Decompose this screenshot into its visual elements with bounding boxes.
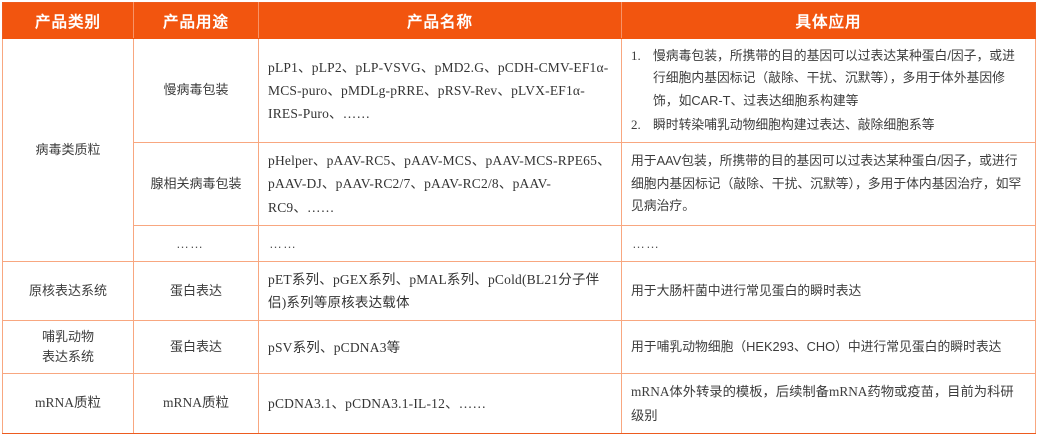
- cell-names-aav: pHelper、pAAV-RC5、pAAV-MCS、pAAV-MCS-RPE65…: [259, 143, 622, 226]
- list-marker: 2.: [631, 114, 649, 137]
- cell-application-lentivirus: 1. 慢病毒包装，所携带的目的基因可以过表达某种蛋白/因子，或进行细胞内基因标记…: [622, 39, 1036, 143]
- cell-names-lentivirus: pLP1、pLP2、pLP-VSVG、pMD2.G、pCDH-CMV-EF1α-…: [259, 39, 622, 143]
- table-row: 哺乳动物 表达系统 蛋白表达 pSV系列、pCDNA3等 用于哺乳动物细胞（HE…: [3, 321, 1036, 374]
- column-header-application: 具体应用: [622, 3, 1036, 39]
- application-list: 1. 慢病毒包装，所携带的目的基因可以过表达某种蛋白/因子，或进行细胞内基因标记…: [631, 45, 1026, 136]
- cell-application-mrna: mRNA体外转录的模板，后续制备mRNA药物或疫苗，目前为科研级别: [622, 374, 1036, 433]
- list-item: 2. 瞬时转染哺乳动物细胞构建过表达、敲除细胞系等: [653, 114, 1026, 136]
- list-item-text: 慢病毒包装，所携带的目的基因可以过表达某种蛋白/因子，或进行细胞内基因标记（敲除…: [653, 48, 1015, 108]
- table-row: mRNA质粒 mRNA质粒 pCDNA3.1、pCDNA3.1-IL-12、………: [3, 374, 1036, 433]
- cell-application-ellipsis: ……: [622, 225, 1036, 261]
- product-spec-table: 产品类别 产品用途 产品名称 具体应用 病毒类质粒 慢病毒包装 pLP1、pLP…: [2, 2, 1036, 434]
- cell-category-prokaryotic-expression: 原核表达系统: [3, 261, 134, 320]
- table-body: 病毒类质粒 慢病毒包装 pLP1、pLP2、pLP-VSVG、pMD2.G、pC…: [3, 39, 1036, 434]
- list-marker: 1.: [631, 45, 649, 68]
- list-item-text: 瞬时转染哺乳动物细胞构建过表达、敲除细胞系等: [653, 117, 935, 132]
- table-header: 产品类别 产品用途 产品名称 具体应用: [3, 3, 1036, 39]
- cell-category-viral-plasmid: 病毒类质粒: [3, 39, 134, 262]
- cell-application-prokaryotic: 用于大肠杆菌中进行常见蛋白的瞬时表达: [622, 261, 1036, 320]
- cell-names-ellipsis: ……: [259, 225, 622, 261]
- table-row: 原核表达系统 蛋白表达 pET系列、pGEX系列、pMAL系列、pCold(BL…: [3, 261, 1036, 320]
- cell-usage-ellipsis: ……: [134, 225, 259, 261]
- cell-names-mrna: pCDNA3.1、pCDNA3.1-IL-12、……: [259, 374, 622, 433]
- column-header-usage: 产品用途: [134, 3, 259, 39]
- cell-application-mammalian: 用于哺乳动物细胞（HEK293、CHO）中进行常见蛋白的瞬时表达: [622, 321, 1036, 374]
- table-row: 病毒类质粒 慢病毒包装 pLP1、pLP2、pLP-VSVG、pMD2.G、pC…: [3, 39, 1036, 143]
- cell-usage-aav-packaging: 腺相关病毒包装: [134, 143, 259, 226]
- cell-usage-protein-expression-mammalian: 蛋白表达: [134, 321, 259, 374]
- table-row: …… …… ……: [3, 225, 1036, 261]
- cell-names-prokaryotic: pET系列、pGEX系列、pMAL系列、pCold(BL21分子伴侣)系列等原核…: [259, 261, 622, 320]
- cell-category-mammalian-expression: 哺乳动物 表达系统: [3, 321, 134, 374]
- product-spec-table-wrapper: 产品类别 产品用途 产品名称 具体应用 病毒类质粒 慢病毒包装 pLP1、pLP…: [0, 0, 1037, 438]
- cell-usage-protein-expression-prokaryotic: 蛋白表达: [134, 261, 259, 320]
- category-line-2: 表达系统: [12, 347, 124, 367]
- cell-usage-lentivirus-packaging: 慢病毒包装: [134, 39, 259, 143]
- cell-application-aav: 用于AAV包装，所携带的目的基因可以过表达某种蛋白/因子，或进行细胞内基因标记（…: [622, 143, 1036, 226]
- category-line-1: 哺乳动物: [12, 327, 124, 347]
- table-row: 腺相关病毒包装 pHelper、pAAV-RC5、pAAV-MCS、pAAV-M…: [3, 143, 1036, 226]
- column-header-product-name: 产品名称: [259, 3, 622, 39]
- list-item: 1. 慢病毒包装，所携带的目的基因可以过表达某种蛋白/因子，或进行细胞内基因标记…: [653, 45, 1026, 112]
- cell-names-mammalian: pSV系列、pCDNA3等: [259, 321, 622, 374]
- cell-category-mrna-plasmid: mRNA质粒: [3, 374, 134, 433]
- table-header-row: 产品类别 产品用途 产品名称 具体应用: [3, 3, 1036, 39]
- column-header-category: 产品类别: [3, 3, 134, 39]
- cell-usage-mrna-plasmid: mRNA质粒: [134, 374, 259, 433]
